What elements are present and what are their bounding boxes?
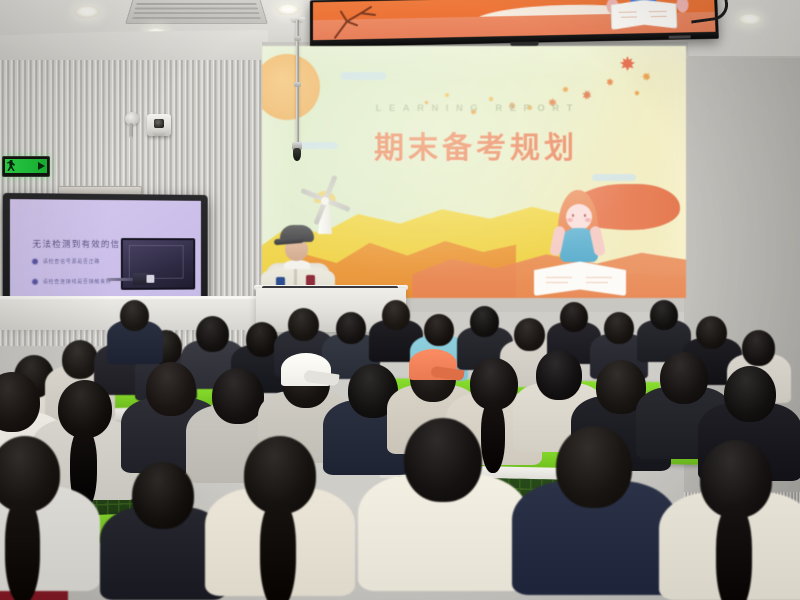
audience-member-ponytail — [716, 505, 752, 600]
display-screen[interactable]: 无法检测到有效的信号源 请检查信号源是否正确 请检查连接线是否接触良好 — [10, 199, 201, 305]
slide-title-chinese: 期末备考规划 — [262, 123, 686, 167]
emergency-exit-sign — [2, 156, 50, 177]
slide-girl-reading — [530, 174, 680, 296]
no-signal-illustration-connector — [147, 275, 155, 283]
wall-camera — [147, 114, 171, 136]
pole-joint — [294, 36, 301, 41]
girl-eye — [584, 214, 586, 217]
audience-member-head — [660, 352, 708, 404]
girl-face — [566, 204, 592, 230]
audience-member-head — [404, 418, 482, 502]
audience-member-head — [288, 308, 319, 341]
audience-member-head — [62, 340, 98, 379]
girl-eye — [572, 214, 574, 217]
slide-cloud — [340, 72, 386, 80]
no-signal-bullet-text: 请检查信号源是否正确 — [43, 258, 100, 265]
audience-member-head — [336, 312, 366, 344]
audience-member-head — [650, 300, 678, 330]
no-signal-bullet-row: 请检查信号源是否正确 — [32, 258, 100, 265]
audience-member-head — [514, 318, 545, 351]
audience-member-head — [424, 314, 454, 346]
book-text-line — [586, 282, 608, 283]
ceiling-downlight — [74, 6, 100, 18]
audience-member-head — [212, 368, 264, 424]
slide-maple-leaf-icon — [634, 90, 641, 97]
ceiling-downlight — [738, 14, 762, 25]
audience-member-ponytail — [5, 499, 40, 600]
book-text-line — [586, 277, 612, 278]
audience-member-head — [146, 362, 196, 416]
slide-maple-leaf-icon — [487, 95, 495, 103]
slide-maple-leaf-icon — [444, 92, 451, 99]
audience-member-head — [556, 426, 632, 508]
girl-open-book — [534, 260, 626, 296]
audience-member-ponytail — [260, 501, 296, 600]
camera-lens-icon — [154, 119, 164, 128]
audience-member-head — [120, 300, 149, 331]
camera-base — [152, 130, 166, 136]
audience-member-head — [196, 316, 229, 352]
book-text-line — [546, 277, 572, 278]
pole-joint — [294, 82, 301, 87]
audience-member-head — [724, 366, 776, 422]
girl-cheek — [567, 218, 573, 222]
slide-maple-leaf-icon — [561, 85, 571, 95]
slide-maple-leaf-icon — [605, 77, 615, 87]
tv-art-bare-tree — [331, 5, 383, 40]
audience-member-head — [742, 330, 775, 366]
bullet-dot-icon — [32, 259, 37, 264]
audience-member-head — [132, 462, 194, 529]
exit-arrow-icon — [38, 162, 45, 170]
book-text-line — [546, 282, 568, 283]
audience-member-head — [696, 316, 727, 349]
slide-maple-leaf-icon — [620, 56, 635, 71]
slide-subtitle-english: LEARNING REPORT — [262, 103, 686, 114]
slide-maple-leaf-icon — [581, 89, 594, 102]
audience-member-ponytail — [481, 401, 505, 473]
slide-maple-leaf-icon — [640, 70, 653, 83]
bullet-dot-icon — [32, 279, 37, 284]
ceiling-downlight — [276, 4, 300, 15]
audience-member-head — [382, 300, 410, 330]
audience-member-head — [536, 350, 582, 400]
hanging-microphone — [293, 148, 301, 161]
tv-logo — [669, 35, 691, 38]
ceiling-ac-vent — [125, 0, 268, 24]
tree-svg — [331, 5, 383, 40]
audience-member-head — [470, 306, 499, 337]
girl-cheek — [585, 218, 591, 222]
windmill-hub — [321, 197, 329, 205]
left-wall-top-trim — [0, 30, 268, 60]
no-signal-bullet-text: 请检查连接线是否接触良好 — [43, 278, 112, 285]
audience-member-head — [604, 312, 634, 344]
audience-member-head — [560, 302, 588, 332]
presenter-collar — [284, 260, 310, 269]
lecture-hall-photo: LEARNING REPORT 期末备考规划 无法检测到有效的信号源 请检查信号… — [0, 0, 800, 600]
no-signal-bullet-row: 请检查连接线是否接触良好 — [32, 278, 111, 285]
front-counter-edge — [0, 296, 262, 299]
